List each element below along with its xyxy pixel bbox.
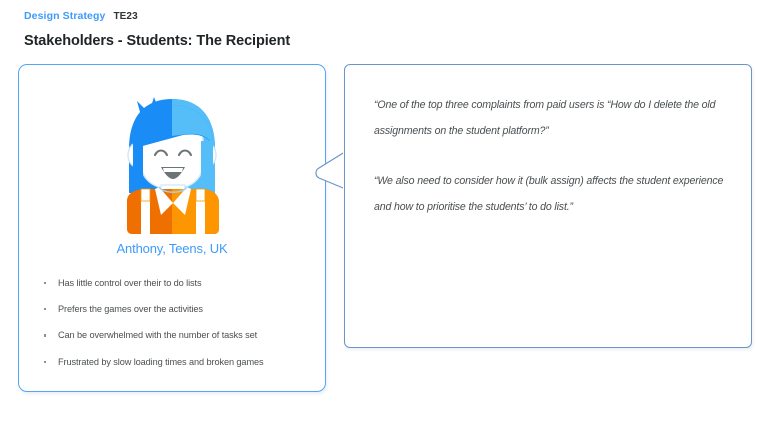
trait-text: Frustrated by slow loading times and bro… — [58, 357, 264, 367]
list-item: Has little control over their to do list… — [41, 279, 309, 288]
student-avatar-icon — [113, 93, 231, 235]
avatar — [19, 93, 325, 235]
list-item: Prefers the games over the activities — [41, 305, 309, 314]
trait-text: Can be overwhelmed with the number of ta… — [58, 330, 257, 340]
bullet-icon — [44, 334, 46, 336]
persona-card: Anthony, Teens, UK Has little control ov… — [18, 64, 326, 392]
page-title: Stakeholders - Students: The Recipient — [24, 33, 290, 49]
quote-bubble: “One of the top three complaints from pa… — [344, 64, 752, 348]
bullet-icon — [44, 308, 46, 310]
list-item: Can be overwhelmed with the number of ta… — [41, 331, 309, 340]
list-item: Frustrated by slow loading times and bro… — [41, 358, 309, 367]
quote-text-primary: “One of the top three complaints from pa… — [374, 93, 727, 145]
trait-text: Prefers the games over the activities — [58, 304, 203, 314]
trait-text: Has little control over their to do list… — [58, 278, 201, 288]
bullet-icon — [44, 361, 46, 363]
bullet-icon — [44, 282, 46, 284]
speech-bubble-tail-icon — [299, 148, 349, 192]
persona-traits-list: Has little control over their to do list… — [41, 279, 309, 384]
breadcrumb: Design Strategy TE23 — [24, 10, 138, 22]
quote-text-secondary: “We also need to consider how it (bulk a… — [374, 169, 727, 221]
breadcrumb-brand: Design Strategy — [24, 10, 105, 22]
breadcrumb-code: TE23 — [113, 11, 137, 22]
persona-name: Anthony, Teens, UK — [19, 241, 325, 256]
